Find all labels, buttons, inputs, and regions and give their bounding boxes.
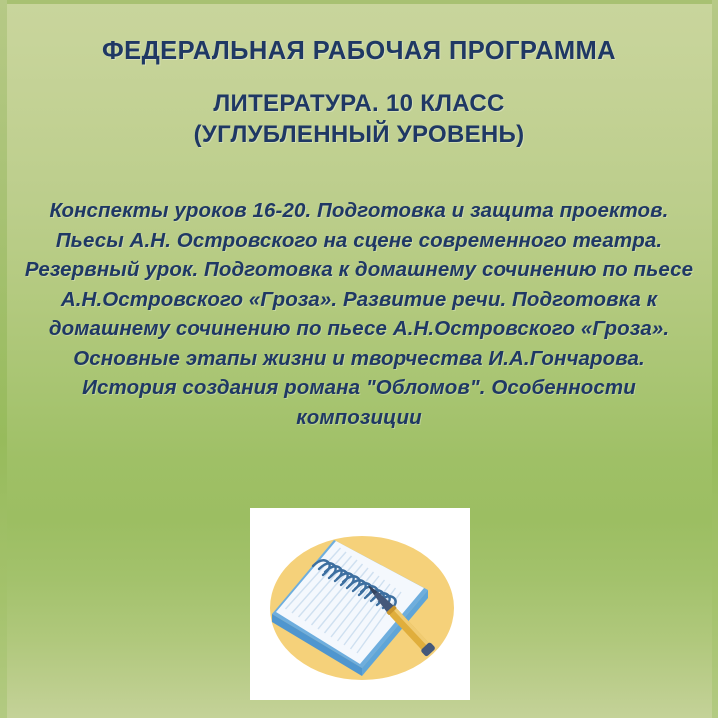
slide-canvas: ФЕДЕРАЛЬНАЯ РАБОЧАЯ ПРОГРАММА ЛИТЕРАТУРА… <box>0 0 718 718</box>
notebook-and-pen-icon <box>250 508 470 700</box>
subject-and-grade-title: ЛИТЕРАТУРА. 10 КЛАСС (УГЛУБЛЕННЫЙ УРОВЕН… <box>0 88 718 150</box>
top-edge-rule <box>0 0 718 4</box>
lesson-summary-text: Конспекты уроков 16-20. Подготовка и защ… <box>24 196 694 432</box>
illustration-card <box>250 508 470 700</box>
program-title: ФЕДЕРАЛЬНАЯ РАБОЧАЯ ПРОГРАММА <box>0 36 718 66</box>
